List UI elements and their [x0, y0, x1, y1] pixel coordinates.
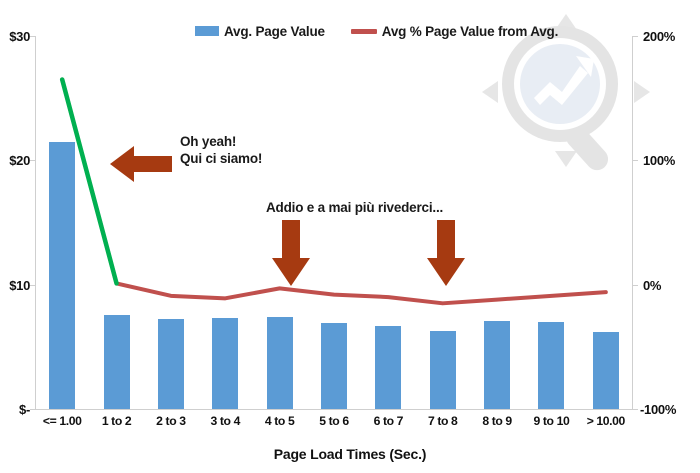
x-axis-label-6: 5 to 6	[307, 414, 361, 428]
y-axis-left-label: $10	[0, 278, 30, 293]
y-axis-left-tick	[30, 409, 35, 410]
x-axis-label-9: 8 to 9	[470, 414, 524, 428]
line-series-above-average	[62, 80, 116, 284]
down-arrow-icon	[270, 220, 312, 286]
y-axis-right-label: 0%	[643, 278, 700, 293]
line-swatch-icon	[351, 29, 377, 34]
x-axis-title: Page Load Times (Sec.)	[0, 446, 700, 462]
x-axis-label-8: 7 to 8	[416, 414, 470, 428]
x-axis-label-10: 9 to 10	[524, 414, 578, 428]
x-axis-label-2: 1 to 2	[89, 414, 143, 428]
y-axis-left-label: $-	[0, 402, 30, 417]
line-series-avg-pct-page-value	[62, 80, 606, 304]
annotation-addio-text: Addio e a mai più rivederci...	[266, 199, 443, 216]
x-axis-labels: <= 1.001 to 22 to 33 to 44 to 55 to 66 t…	[35, 414, 633, 438]
x-axis-label-1: <= 1.00	[35, 414, 89, 428]
y-axis-right-label: -100%	[640, 402, 698, 417]
y-axis-left-label: $20	[0, 153, 30, 168]
y-axis-right-label: 100%	[643, 153, 700, 168]
y-axis-right-tick	[633, 409, 638, 410]
down-arrow-icon	[425, 220, 467, 286]
x-axis-label-3: 2 to 3	[144, 414, 198, 428]
left-arrow-icon	[110, 144, 172, 184]
annotation-line: Oh yeah!	[180, 133, 262, 150]
annotation-line: Addio e a mai più rivederci...	[266, 199, 443, 216]
y-axis-left-label: $30	[0, 29, 30, 44]
x-axis-label-5: 4 to 5	[252, 414, 306, 428]
annotation-line: Qui ci siamo!	[180, 150, 262, 167]
x-axis-line	[35, 409, 633, 410]
x-axis-label-7: 6 to 7	[361, 414, 415, 428]
annotation-oh-yeah-text: Oh yeah! Qui ci siamo!	[180, 133, 262, 167]
y-axis-right-label: 200%	[643, 29, 700, 44]
y-axis-right-tick	[633, 160, 638, 161]
line-series-group	[35, 36, 633, 409]
y-axis-right-tick	[633, 285, 638, 286]
x-axis-label-11: > 10.00	[579, 414, 633, 428]
y-axis-right-tick	[633, 36, 638, 37]
x-axis-label-4: 3 to 4	[198, 414, 252, 428]
bar-swatch-icon	[195, 26, 219, 36]
